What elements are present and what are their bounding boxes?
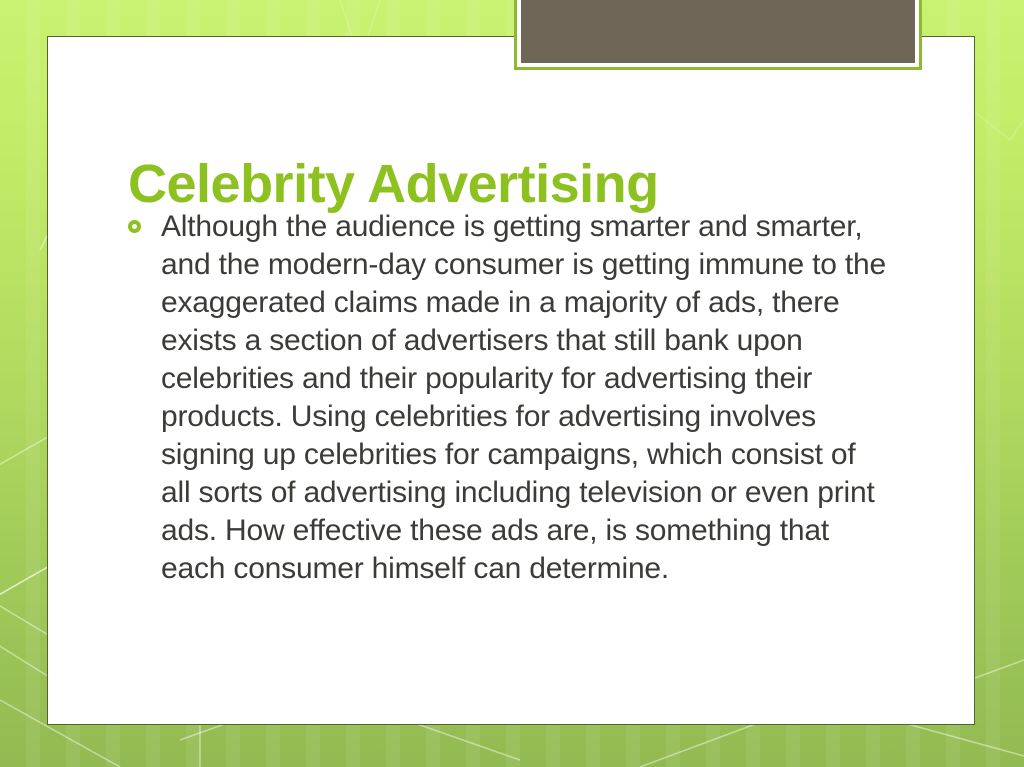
decorative-top-accent-fill	[521, 0, 915, 63]
ring-bullet-icon	[128, 208, 161, 233]
list-item: Although the audience is getting smarter…	[128, 208, 888, 588]
decorative-top-accent-block	[514, 0, 922, 70]
page-title: Celebrity Advertising	[128, 156, 928, 213]
slide-bullet-list: Although the audience is getting smarter…	[128, 208, 888, 588]
presentation-slide: Celebrity Advertising Although the audie…	[0, 0, 1024, 767]
bullet-paragraph-text: Although the audience is getting smarter…	[161, 208, 888, 588]
